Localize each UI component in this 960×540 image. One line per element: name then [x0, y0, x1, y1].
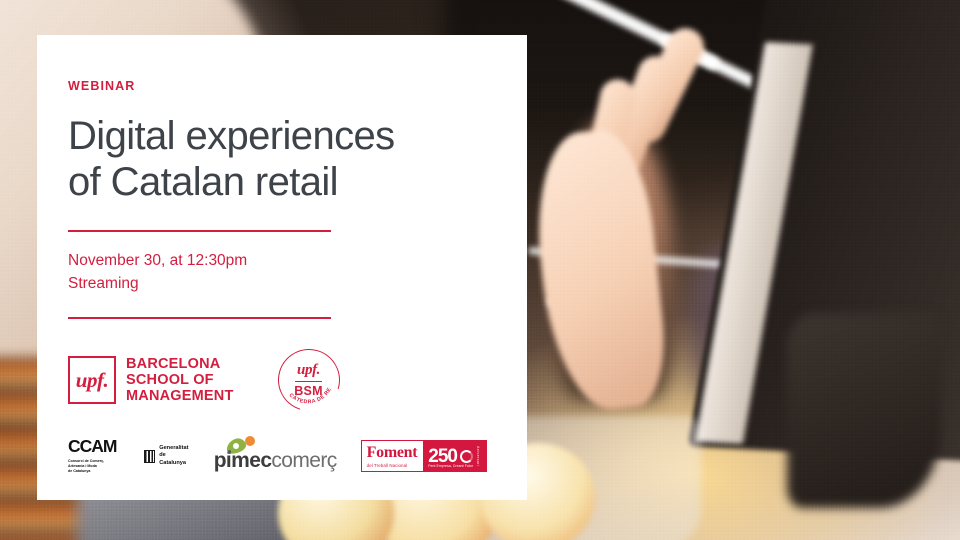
title-line-2: of Catalan retail [68, 160, 338, 204]
generalitat-line-2: de Catalunya [159, 452, 189, 467]
ccam-subtitle: Consorci de Comerç, Artesania i Moda de … [68, 459, 120, 475]
foment-anniversary-number: 250 [428, 447, 457, 466]
generalitat-logo: Generalitat de Catalunya [144, 445, 189, 468]
promo-card: WEBINAR Digital experiences of Catalan r… [37, 35, 527, 500]
divider-bottom [68, 317, 331, 319]
event-format: Streaming [68, 273, 487, 295]
upf-logo-box: upf. [68, 356, 116, 404]
foment-name-block: Foment del Treball Nacional [362, 441, 424, 471]
svg-text:CÀTEDRA DE RETAIL: CÀTEDRA DE RETAIL [278, 349, 333, 405]
seal-curved-text: CÀTEDRA DE RETAIL [278, 349, 333, 405]
upf-bsm-logo: upf. BARCELONA SCHOOL OF MANAGEMENT [68, 356, 234, 405]
generalitat-name: Generalitat de Catalunya [159, 445, 189, 468]
seal-curved-text-icon: CÀTEDRA DE RETAIL [278, 349, 340, 411]
foment-side-note: Aniversari [476, 446, 480, 466]
ccam-subtitle-line-3: de Catalunya [68, 469, 120, 474]
pimec-comerc-logo: pimeccomerç [214, 441, 337, 471]
event-datetime: November 30, at 12:30pm [68, 250, 487, 272]
primary-logo-row: upf. BARCELONA SCHOOL OF MANAGEMENT upf.… [68, 349, 487, 411]
foment-anniversary-block: 250 Aniversari Fent Empresa, Creant Futu… [423, 441, 486, 471]
catalan-flag-icon [144, 450, 155, 463]
promo-card-content: WEBINAR Digital experiences of Catalan r… [37, 35, 527, 474]
event-details: November 30, at 12:30pm Streaming [68, 250, 487, 295]
generalitat-line-1: Generalitat [159, 445, 189, 453]
page-title: Digital experiences of Catalan retail [68, 114, 487, 205]
foment-wordmark: Foment [367, 445, 418, 461]
ccam-wordmark: CCAM [68, 438, 120, 456]
foment-ring-icon [460, 450, 473, 463]
pimec-grey-dot [228, 450, 232, 454]
pimec-leaf-hole [233, 443, 239, 449]
eyebrow-label: WEBINAR [68, 79, 487, 93]
foment-subtitle: del Treball Nacional [367, 463, 418, 468]
pimec-mark-icon [226, 436, 260, 454]
bsm-name-line-1: BARCELONA [126, 356, 234, 372]
foment-logo: Foment del Treball Nacional 250 Aniversa… [361, 440, 487, 472]
upf-wordmark: upf. [76, 368, 108, 393]
catedra-retail-seal: upf. BSM CÀTEDRA DE RETAIL [278, 349, 340, 411]
divider-top [68, 230, 331, 232]
foment-tagline: Fent Empresa, Creant Futur [428, 464, 473, 468]
ccam-logo: CCAM Consorci de Comerç, Artesania i Mod… [68, 438, 120, 474]
pimec-word-light: comerç [271, 449, 336, 472]
bsm-name: BARCELONA SCHOOL OF MANAGEMENT [126, 356, 234, 405]
partner-logo-row: CCAM Consorci de Comerç, Artesania i Mod… [68, 438, 487, 474]
title-line-1: Digital experiences [68, 114, 395, 158]
pimec-orange-dot [245, 436, 255, 446]
bsm-name-line-2: SCHOOL OF [126, 372, 234, 388]
bsm-name-line-3: MANAGEMENT [126, 388, 234, 404]
